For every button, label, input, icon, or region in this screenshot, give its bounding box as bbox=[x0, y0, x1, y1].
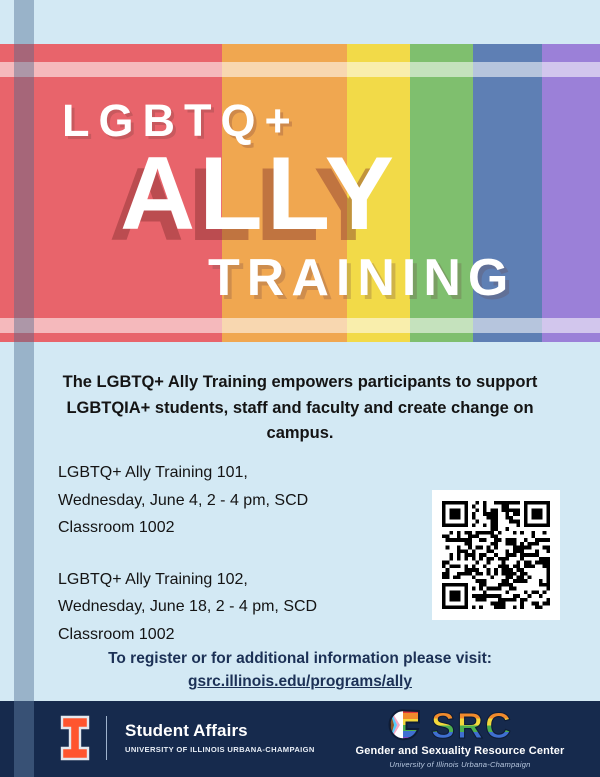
register-prompt: To register or for additional informatio… bbox=[108, 650, 492, 667]
rainbow-stripe-blue bbox=[473, 44, 542, 342]
qr-code-panel[interactable] bbox=[432, 490, 560, 620]
rainbow-stripe-orange bbox=[222, 44, 347, 342]
register-callout: To register or for additional informatio… bbox=[40, 647, 560, 694]
intro-paragraph: The LGBTQ+ Ally Training empowers partic… bbox=[42, 370, 558, 447]
rainbow-stripe-yellow bbox=[347, 44, 410, 342]
gsrc-center-name: Gender and Sexuality Resource Center bbox=[330, 745, 590, 757]
register-url-link[interactable]: gsrc.illinois.edu/programs/ally bbox=[40, 670, 560, 693]
session-list: LGBTQ+ Ally Training 101, Wednesday, Jun… bbox=[58, 459, 418, 672]
hero-highlight-band-bottom bbox=[0, 318, 600, 333]
vertical-accent-bar bbox=[14, 0, 34, 777]
block-i-icon bbox=[58, 715, 92, 761]
gsrc-wordmark-icon: SRC bbox=[330, 707, 590, 743]
student-affairs-text: Student Affairs UNIVERSITY OF ILLINOIS U… bbox=[125, 722, 315, 754]
rainbow-stripe-green bbox=[410, 44, 473, 342]
poster-footer: Student Affairs UNIVERSITY OF ILLINOIS U… bbox=[0, 701, 600, 777]
session-item: LGBTQ+ Ally Training 101, Wednesday, Jun… bbox=[58, 459, 418, 542]
session-where: Classroom 1002 bbox=[58, 514, 418, 542]
session-where: Classroom 1002 bbox=[58, 621, 418, 649]
rainbow-stripe-purple bbox=[542, 44, 600, 342]
rainbow-hero-band bbox=[0, 44, 600, 342]
session-name: LGBTQ+ Ally Training 102, bbox=[58, 566, 418, 594]
session-when: Wednesday, June 4, 2 - 4 pm, SCD bbox=[58, 487, 418, 515]
student-affairs-title: Student Affairs bbox=[125, 722, 315, 741]
poster-canvas: LGBTQ+ ALLY TRAINING The LGBTQ+ Ally Tra… bbox=[0, 0, 600, 777]
hero-highlight-band-top bbox=[0, 62, 600, 77]
gsrc-university: University of Illinois Urbana-Champaign bbox=[330, 760, 590, 769]
lockup-divider bbox=[106, 716, 107, 760]
gsrc-lockup: SRC Gender and Sexuality Resource Center… bbox=[330, 707, 590, 769]
student-affairs-subtitle: UNIVERSITY OF ILLINOIS URBANA-CHAMPAIGN bbox=[125, 745, 315, 754]
svg-text:SRC: SRC bbox=[431, 707, 513, 743]
session-name: LGBTQ+ Ally Training 101, bbox=[58, 459, 418, 487]
session-item: LGBTQ+ Ally Training 102, Wednesday, Jun… bbox=[58, 566, 418, 649]
student-affairs-lockup: Student Affairs UNIVERSITY OF ILLINOIS U… bbox=[58, 715, 315, 761]
session-when: Wednesday, June 18, 2 - 4 pm, SCD bbox=[58, 593, 418, 621]
rainbow-stripes bbox=[0, 44, 600, 342]
qr-code-icon[interactable] bbox=[442, 501, 550, 609]
